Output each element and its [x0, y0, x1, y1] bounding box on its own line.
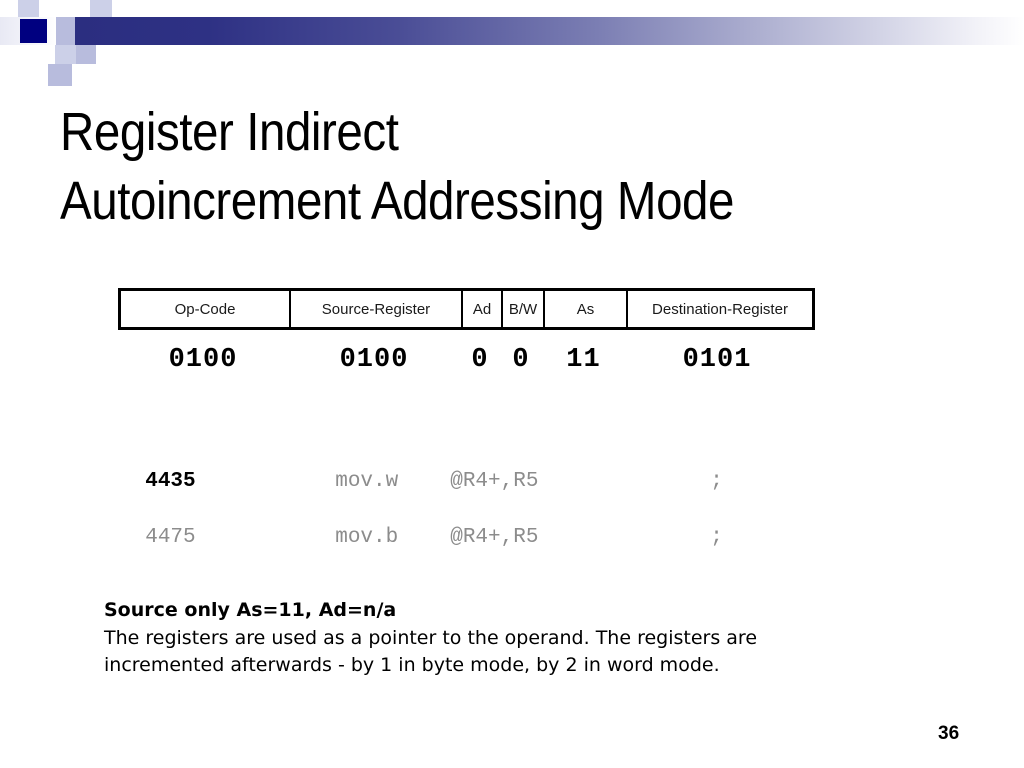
field-value-ad: 0: [460, 342, 500, 378]
page-number: 36: [938, 723, 959, 745]
table-header-bw: B/W: [503, 291, 545, 327]
table-header-destination-register: Destination-Register: [628, 291, 812, 327]
field-value-as: 11: [542, 342, 625, 378]
header-gradient-bar: [75, 17, 1024, 45]
description-heading: Source only As=11, Ad=n/a: [104, 598, 894, 624]
description-block: Source only As=11, Ad=n/a The registers …: [104, 598, 894, 680]
code-mnemonic-byte: mov.b: [335, 526, 450, 549]
description-body-line-1: The registers are used as a pointer to t…: [104, 625, 894, 653]
header-decoration: [0, 0, 1024, 70]
code-hex-word: 4435: [145, 470, 335, 493]
page-title-line-1: Register Indirect: [60, 98, 852, 167]
field-value-bw: 0: [500, 342, 542, 378]
instruction-format-table: Op-Code Source-Register Ad B/W As Destin…: [118, 288, 815, 330]
decoration-square-1: [18, 0, 39, 17]
decoration-square-2: [90, 0, 112, 17]
code-hex-byte: 4475: [145, 526, 335, 549]
description-body-line-2: incremented afterwards - by 1 in byte mo…: [104, 652, 894, 680]
code-comment-byte: ;: [710, 526, 723, 549]
code-row: 4435mov.w@R4+,R5;: [120, 447, 840, 493]
decoration-square-7: [48, 64, 72, 86]
code-row: 4475mov.b@R4+,R5;: [120, 503, 840, 549]
code-mnemonic-word: mov.w: [335, 470, 450, 493]
table-header-ad: Ad: [463, 291, 503, 327]
instruction-field-values: 0100 0100 0 0 11 0101: [118, 342, 815, 378]
field-value-op-code: 0100: [118, 342, 288, 378]
code-operands-word: @R4+,R5: [450, 470, 710, 493]
decoration-square-6: [76, 45, 96, 64]
field-value-source-register: 0100: [288, 342, 460, 378]
table-header-op-code: Op-Code: [121, 291, 291, 327]
field-value-destination-register: 0101: [625, 342, 809, 378]
decoration-square-5: [55, 45, 76, 64]
table-header-source-register: Source-Register: [291, 291, 463, 327]
code-operands-byte: @R4+,R5: [450, 526, 710, 549]
page-title: Register Indirect Autoincrement Addressi…: [60, 98, 852, 236]
description-body: The registers are used as a pointer to t…: [104, 625, 894, 680]
page-title-line-2: Autoincrement Addressing Mode: [60, 167, 852, 236]
table-header-as: As: [545, 291, 628, 327]
decoration-square-navy: [20, 19, 47, 43]
code-comment-word: ;: [710, 470, 723, 493]
decoration-square-3: [56, 17, 76, 45]
